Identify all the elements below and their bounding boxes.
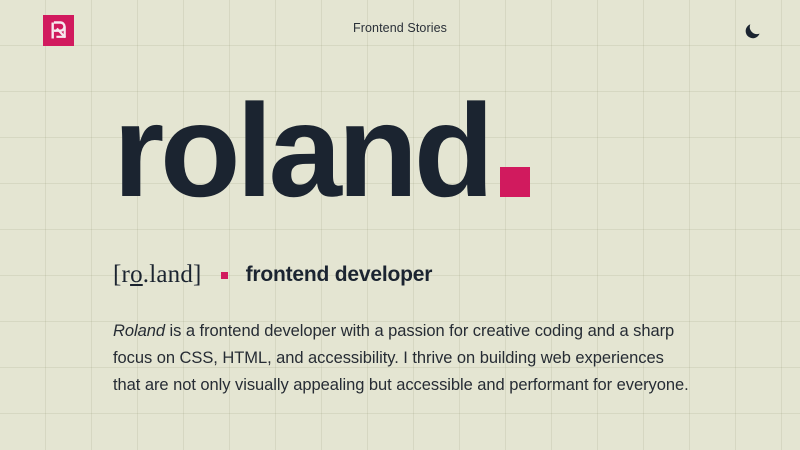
bio-text: is a frontend developer with a passion f… (113, 322, 689, 393)
pronunciation-role-row: [ro.land] frontend developer (113, 261, 740, 289)
wordmark-accent-square (500, 167, 530, 197)
moon-icon[interactable] (739, 16, 767, 44)
separator-square-icon (221, 272, 228, 279)
page-title: roland (113, 90, 740, 211)
phonetic-transcription: [ro.land] (113, 261, 202, 289)
hero-section: roland [ro.land] frontend developer Rola… (113, 58, 740, 399)
phonetic-close: .land] (143, 261, 202, 288)
site-title: Frontend Stories (0, 21, 800, 35)
role-label: frontend developer (246, 263, 433, 287)
bio-name: Roland (113, 322, 165, 340)
phonetic-open: [r (113, 261, 130, 288)
wordmark-text: roland (113, 90, 490, 211)
bio-paragraph: Roland is a frontend developer with a pa… (113, 318, 693, 398)
profile-page: Frontend Stories roland [ro.land] fronte… (0, 0, 800, 450)
phonetic-stressed-vowel: o (130, 261, 143, 288)
site-header: Frontend Stories (0, 0, 800, 58)
